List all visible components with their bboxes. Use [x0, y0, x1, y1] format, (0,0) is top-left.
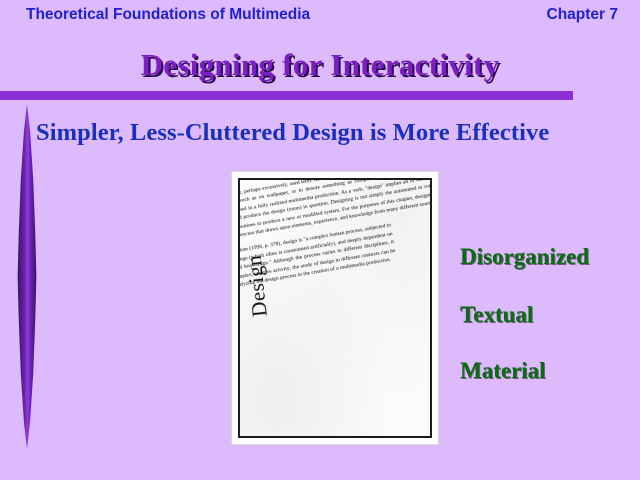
title-divider-bar — [0, 91, 573, 100]
callout-material: Material — [460, 358, 546, 384]
scanned-document-image: Design "Design" is a widely, perhaps exc… — [231, 171, 439, 445]
scan-body-text: "Design" is a widely, perhaps excessivel… — [238, 178, 432, 301]
scanned-document-page: Design "Design" is a widely, perhaps exc… — [238, 178, 432, 438]
slide-canvas: Theoretical Foundations of Multimedia Ch… — [0, 0, 640, 480]
spindle-ornament-icon — [14, 104, 40, 449]
header-chapter-label: Chapter 7 — [547, 6, 619, 24]
callout-disorganized: Disorganized — [460, 244, 589, 270]
slide-title: Designing for Interactivity — [0, 47, 640, 83]
header-course-title: Theoretical Foundations of Multimedia — [26, 6, 310, 24]
callout-textual: Textual — [460, 302, 533, 328]
slide-subtitle: Simpler, Less-Cluttered Design is More E… — [36, 119, 549, 147]
